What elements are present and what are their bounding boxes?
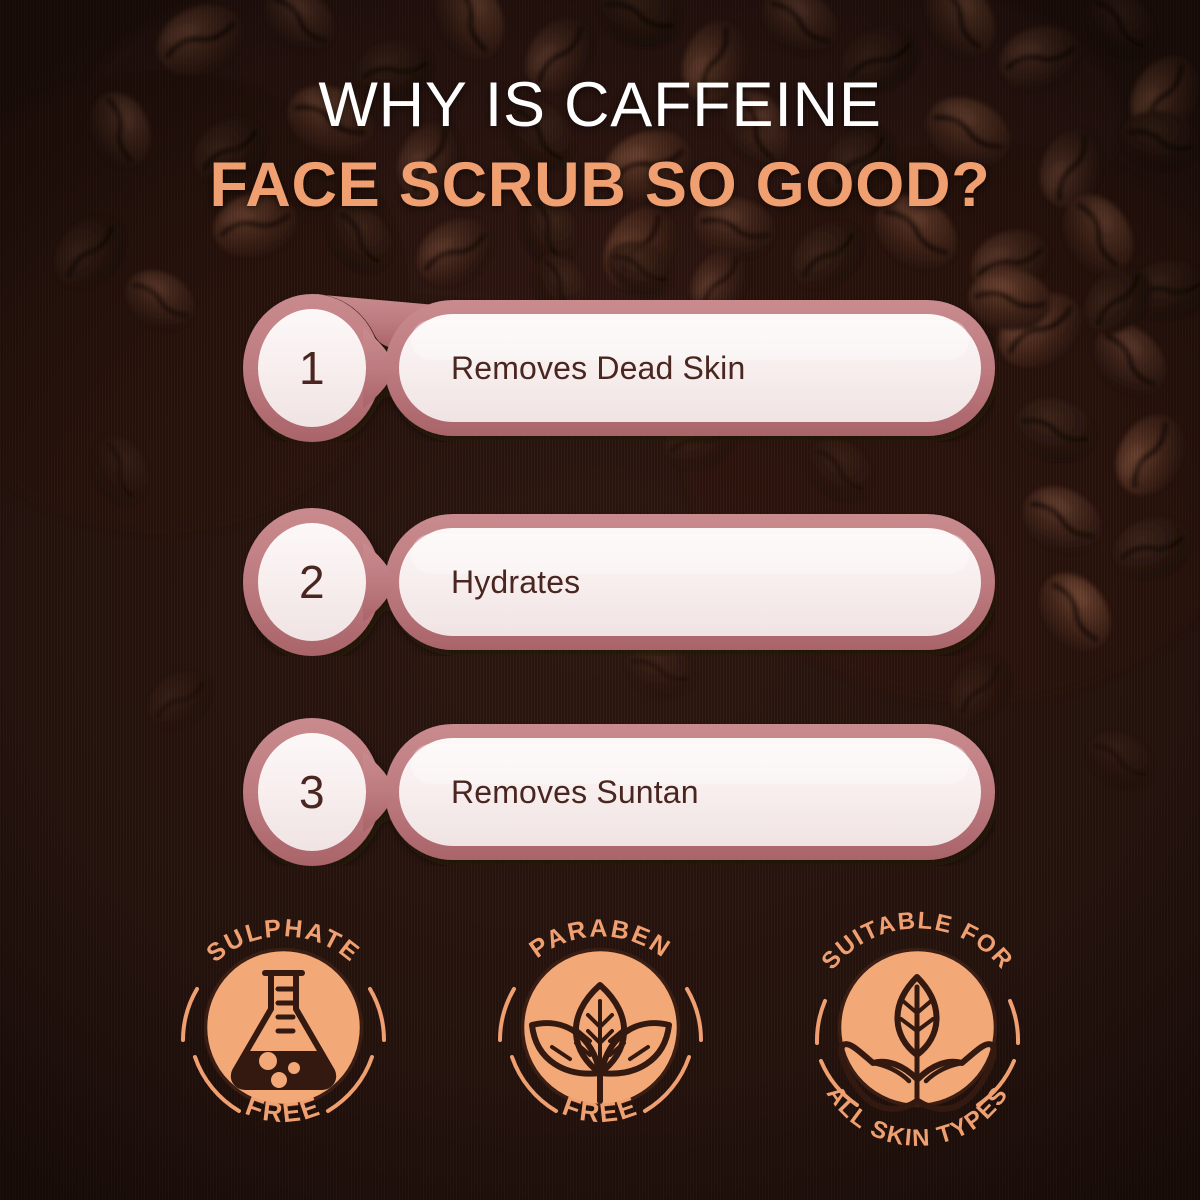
headline-line-2: FACE SCRUB SO GOOD? xyxy=(0,154,1200,217)
benefit-row-2[interactable]: 2 Hydrates xyxy=(243,508,995,656)
benefit-number: 2 xyxy=(248,508,376,656)
benefit-label: Hydrates xyxy=(451,508,955,656)
benefit-label: Removes Dead Skin xyxy=(451,294,955,442)
page-title: WHY IS CAFFEINE FACE SCRUB SO GOOD? xyxy=(0,74,1200,217)
benefit-label: Removes Suntan xyxy=(451,718,955,866)
headline-line-1: WHY IS CAFFEINE xyxy=(0,74,1200,137)
badge-suitable-all-skin-types: SUITABLE FOR ALL SKIN TYPES xyxy=(795,905,1040,1150)
promo-graphic: WHY IS CAFFEINE FACE SCRUB SO GOOD? xyxy=(0,0,1200,1200)
benefit-row-1[interactable]: 1 Removes Dead Skin xyxy=(243,294,995,442)
badge-sulphate-free: SULPHATE FREE xyxy=(161,905,406,1150)
benefit-number: 3 xyxy=(248,718,376,866)
benefit-number: 1 xyxy=(248,294,376,442)
badge-paraben-free: PARABEN FREE xyxy=(478,905,723,1150)
benefit-row-3[interactable]: 3 Removes Suntan xyxy=(243,718,995,866)
certification-badges: SULPHATE FREE xyxy=(0,905,1200,1150)
